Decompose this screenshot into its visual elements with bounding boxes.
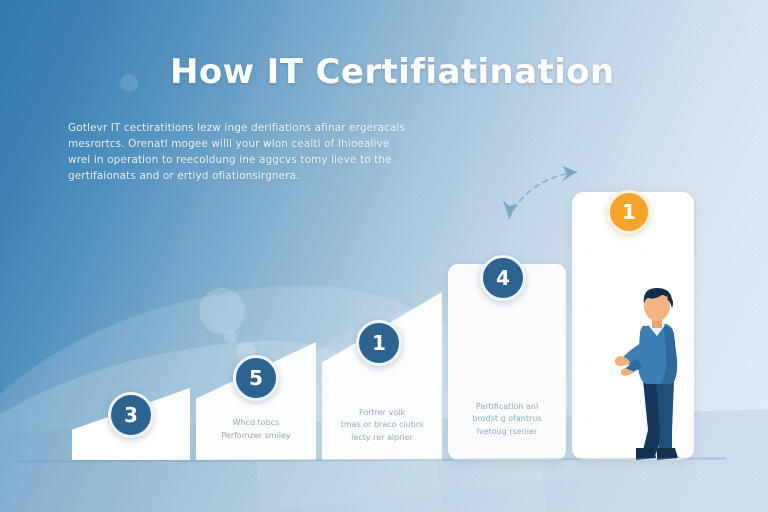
step-3-line-2: tmas or braco ciubrs: [330, 419, 434, 432]
step-4-line-1: Partification anl: [456, 401, 558, 414]
standing-person-illustration: [612, 284, 704, 468]
step-bar-3[interactable]: Fortrer volk tmas or braco ciubrs lecty …: [322, 292, 442, 460]
step-2-line-1: Whcd tobcs: [204, 417, 308, 430]
step-badge-3[interactable]: 1: [356, 320, 402, 366]
step-4-text: Partification anl brodst g ofantrus lvet…: [448, 401, 566, 439]
step-3-line-3: lecty rer alprier: [330, 432, 434, 445]
infographic-canvas: How IT Certifiatination Gotlevr IT cecti…: [0, 0, 768, 512]
step-badge-2[interactable]: 5: [233, 355, 279, 401]
step-badge-4[interactable]: 4: [480, 255, 526, 301]
step-badge-1[interactable]: 3: [108, 392, 154, 438]
step-2-line-2: Perfomzer smiley: [204, 430, 308, 443]
step-4-line-2: brodst g ofantrus: [456, 413, 558, 426]
step-4-line-3: lvetoug rsenier: [456, 426, 558, 439]
step-3-line-1: Fortrer volk: [330, 407, 434, 420]
step-3-text: Fortrer volk tmas or braco ciubrs lecty …: [322, 407, 442, 445]
step-badge-5[interactable]: 1: [607, 190, 651, 234]
curved-dashed-double-arrow-icon: [495, 150, 605, 230]
step-2-text: Whcd tobcs Perfomzer smiley: [196, 417, 316, 442]
